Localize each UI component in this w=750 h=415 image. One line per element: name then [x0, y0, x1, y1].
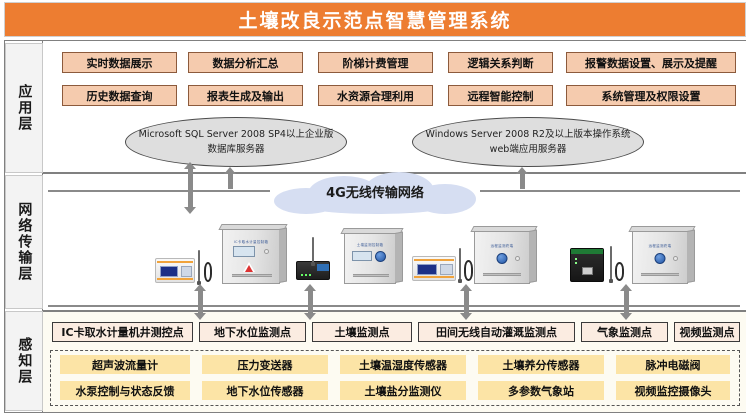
- equipment-soil-temp-humidity-sensor[interactable]: 土壤温湿度传感器: [340, 355, 466, 374]
- network-bus-right: [480, 190, 740, 192]
- layer-label-application: 应用层: [5, 43, 43, 173]
- monitoring-point-video[interactable]: 视频监测点: [674, 322, 740, 342]
- monitoring-point-ic-card-well[interactable]: IC卡取水计量机井测控点: [52, 322, 193, 342]
- app-function-tiered-billing[interactable]: 阶梯计费管理: [318, 52, 433, 73]
- system-architecture-diagram: 土壤改良示范点智慧管理系统 应用层 网络传输层 感知层 实时数据展示 数据分析汇…: [0, 0, 750, 415]
- layer-link-arrow-app-network: [184, 162, 197, 214]
- equipment-soil-salinity-monitor[interactable]: 土壤盐分监测仪: [340, 381, 466, 400]
- layer-label-perception: 感知层: [5, 311, 43, 411]
- app-function-data-analysis[interactable]: 数据分析汇总: [188, 52, 303, 73]
- app-function-alarm-settings[interactable]: 报警数据设置、展示及提醒: [566, 52, 736, 73]
- layer-label-network-text: 网络传输层: [17, 202, 32, 282]
- app-function-history-query[interactable]: 历史数据查询: [62, 85, 177, 106]
- cabinet-caption-remote-2: 远程监测终端: [633, 243, 687, 248]
- equipment-groundwater-level-sensor[interactable]: 地下水位传感器: [202, 381, 328, 400]
- page-title: 土壤改良示范点智慧管理系统: [238, 6, 511, 33]
- app-function-remote-control[interactable]: 远程智能控制: [448, 85, 553, 106]
- layer-link-arrow-1: [194, 284, 207, 320]
- monitoring-point-weather[interactable]: 气象监测点: [581, 322, 668, 342]
- cabinet-caption-remote-1: 远程监测终端: [475, 243, 529, 248]
- monitoring-point-field-irrigation[interactable]: 田间无线自动灌溉监测点: [418, 322, 575, 342]
- perception-bus-line: [48, 305, 740, 307]
- layer-label-perception-text: 感知层: [17, 337, 32, 385]
- equipment-ultrasonic-flowmeter[interactable]: 超声波流量计: [60, 355, 190, 374]
- uplink-arrow-web-server: [516, 167, 529, 189]
- equipment-multiparameter-weather-station[interactable]: 多参数气象站: [478, 381, 604, 400]
- layer-link-arrow-2: [304, 284, 317, 320]
- layer-label-application-text: 应用层: [17, 84, 32, 132]
- cabinet-caption-metering: IC卡取水计量控制箱: [223, 239, 279, 244]
- layer-label-column: 应用层 网络传输层 感知层: [5, 41, 43, 412]
- equipment-pressure-transmitter[interactable]: 压力变送器: [202, 355, 328, 374]
- monitoring-point-soil[interactable]: 土壤监测点: [312, 322, 412, 342]
- layer-link-arrow-3: [460, 284, 473, 320]
- web-server-line2: web端应用服务器: [490, 142, 567, 157]
- database-server-node: Microsoft SQL Server 2008 SP4以上企业版 数据库服务…: [125, 117, 347, 167]
- web-server-line1: Windows Server 2008 R2及以上版本操作系统: [426, 127, 631, 142]
- cabinet-caption-soil: 土壤监测控制箱: [345, 242, 395, 247]
- wireless-network-cloud: 4G无线传输网络: [268, 172, 482, 214]
- equipment-pump-control-feedback[interactable]: 水泵控制与状态反馈: [60, 381, 190, 400]
- app-function-realtime-data[interactable]: 实时数据展示: [62, 52, 177, 73]
- app-function-system-management[interactable]: 系统管理及权限设置: [566, 85, 736, 106]
- app-function-report-generation[interactable]: 报表生成及输出: [188, 85, 303, 106]
- equipment-soil-nutrient-sensor[interactable]: 土壤养分传感器: [478, 355, 604, 374]
- layer-label-network: 网络传输层: [5, 175, 43, 309]
- page-title-bar: 土壤改良示范点智慧管理系统: [4, 2, 746, 37]
- app-function-logic-judgement[interactable]: 逻辑关系判断: [448, 52, 553, 73]
- layer-link-arrow-4: [620, 284, 633, 320]
- wireless-network-label: 4G无线传输网络: [268, 182, 482, 201]
- uplink-arrow-database-server: [224, 167, 237, 189]
- equipment-pulse-solenoid-valve[interactable]: 脉冲电磁阀: [616, 355, 730, 374]
- database-server-line2: 数据库服务器: [207, 142, 264, 157]
- database-server-line1: Microsoft SQL Server 2008 SP4以上企业版: [139, 127, 334, 142]
- equipment-video-surveillance-camera[interactable]: 视频监控摄像头: [616, 381, 730, 400]
- app-function-water-resource-use[interactable]: 水资源合理利用: [318, 85, 433, 106]
- monitoring-point-groundwater-level[interactable]: 地下水位监测点: [199, 322, 306, 342]
- web-application-server-node: Windows Server 2008 R2及以上版本操作系统 web端应用服务…: [412, 117, 644, 167]
- network-bus-left: [48, 190, 270, 192]
